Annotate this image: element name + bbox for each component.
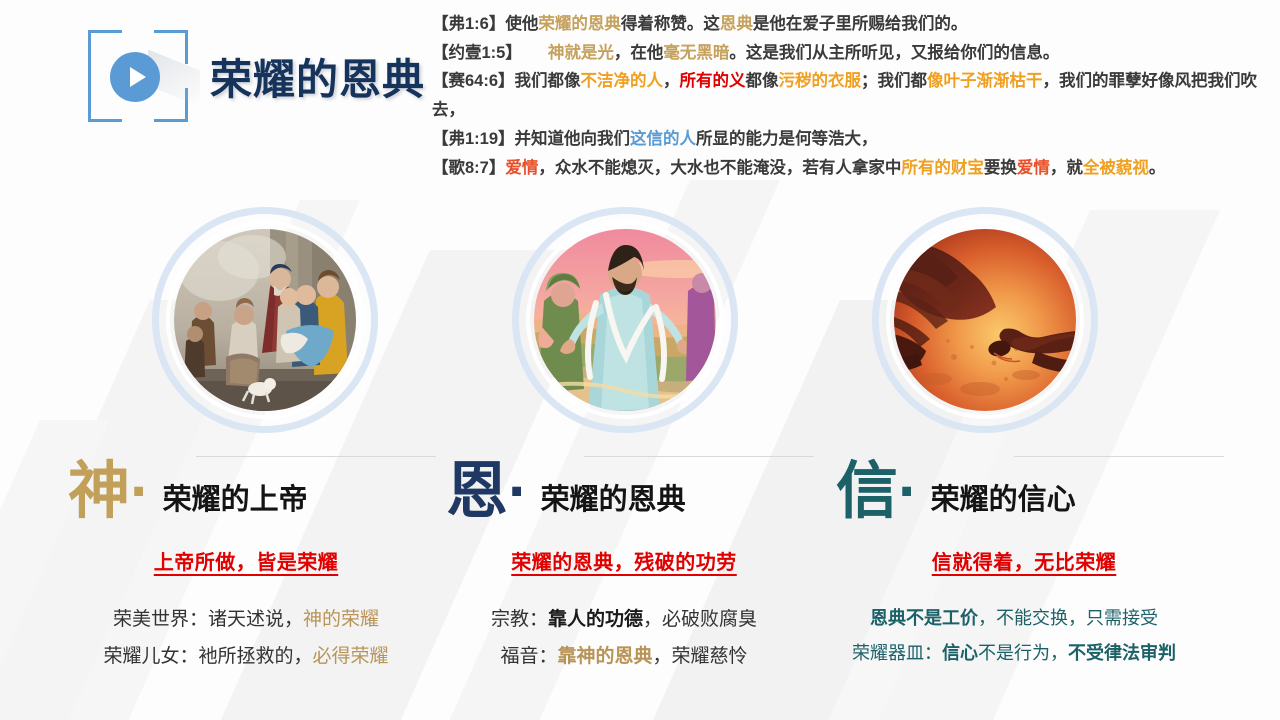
text-run: 【赛64:6】我们都像 <box>432 72 581 90</box>
column-big-char: 恩 <box>446 463 507 522</box>
column-faith: 信 · 荣耀的信心 信就得着，无比荣耀 恩典不是工价，不能交换，只需接受荣耀器皿… <box>814 448 1214 671</box>
column-detail-line: 荣耀器皿：信心不是行为，不受律法审判 <box>814 636 1214 671</box>
brand-lockup: 荣耀的恩典 <box>88 26 428 126</box>
column-detail-line: 恩典不是工价，不能交换，只需接受 <box>814 601 1214 636</box>
reaching-hands-silhouette <box>894 229 1076 411</box>
circle-image-2 <box>512 207 738 433</box>
text-run: ，不能交换，只需接受 <box>978 608 1158 628</box>
text-run: 必得荣耀 <box>313 646 389 667</box>
column-slogan: 信就得着，无比荣耀 <box>814 546 1214 575</box>
column-subtitle: 荣耀的信心 <box>931 476 1076 522</box>
text-run: ， <box>663 72 680 90</box>
text-run: ，在他 <box>614 44 664 62</box>
text-run: 要换 <box>984 159 1017 177</box>
text-run: 信心 <box>942 643 978 663</box>
text-run: 不受律法审判 <box>1068 643 1176 663</box>
text-run: 。 <box>1149 159 1166 177</box>
text-run: 得着称赞。这 <box>621 15 720 33</box>
slide-canvas: 荣耀的恩典 【弗1:6】使他荣耀的恩典得着称赞。这恩典是他在爱子里所赐给我们的。… <box>0 0 1280 720</box>
jesus-open-arms-illustration <box>534 229 716 411</box>
column-divider-line <box>584 456 814 457</box>
text-run: 恩典不是工价 <box>870 608 978 628</box>
column-heading: 信 · 荣耀的信心 <box>814 448 1214 522</box>
prodigal-son-painting <box>174 229 356 411</box>
slide-header: 荣耀的恩典 【弗1:6】使他荣耀的恩典得着称赞。这恩典是他在爱子里所赐给我们的。… <box>0 0 1280 190</box>
column-dot: · <box>898 463 919 522</box>
brand-title: 荣耀的恩典 <box>210 46 425 107</box>
column-lines: 荣美世界：诸天述说，神的荣耀荣耀儿女：衪所拯救的，必得荣耀 <box>46 601 446 675</box>
column-subtitle: 荣耀的恩典 <box>541 476 686 522</box>
circle-image-3 <box>872 207 1098 433</box>
text-run: 【歌8:7】 <box>432 159 505 177</box>
column-detail-line: 荣耀儿女：衪所拯救的，必得荣耀 <box>46 638 446 675</box>
text-run: 荣耀儿女：衪所拯救的， <box>103 646 312 667</box>
text-run: 荣耀器皿： <box>852 643 942 663</box>
text-run: 宗教： <box>491 609 548 630</box>
text-run: 【弗1:6】使他 <box>432 15 538 33</box>
text-run: 污秽的衣服 <box>779 72 862 90</box>
text-run: ，众水不能熄灭，大水也不能淹没，若有人拿家中 <box>538 159 901 177</box>
text-run: ，荣耀慈怜 <box>653 646 748 667</box>
text-run: 这信的人 <box>630 130 696 148</box>
column-detail-line: 福音：靠神的恩典，荣耀慈怜 <box>424 638 824 675</box>
column-dot: · <box>130 463 151 522</box>
verse-line: 【约壹1:5】神就是光，在他毫无黑暗。这是我们从主所听见，又报给你们的信息。 <box>432 39 1272 68</box>
column-slogan: 荣耀的恩典，残破的功劳 <box>424 546 824 575</box>
text-run: 不洁净的人 <box>581 72 664 90</box>
text-run: ；我们都 <box>861 72 927 90</box>
text-run: 毫无黑暗 <box>663 44 729 62</box>
column-dot: · <box>508 463 529 522</box>
text-run: 所有的义 <box>680 72 746 90</box>
text-run: ，就 <box>1050 159 1083 177</box>
text-run: 【弗1:19】并知道他向我们 <box>432 130 630 148</box>
column-divider-line <box>1014 456 1224 457</box>
text-run: 福音： <box>500 646 557 667</box>
column-grace: 恩 · 荣耀的恩典 荣耀的恩典，残破的功劳 宗教：靠人的功德，必破败腐臭福音：靠… <box>424 448 824 675</box>
text-run: 神就是光 <box>548 44 614 62</box>
column-slogan: 上帝所做，皆是荣耀 <box>46 546 446 575</box>
text-run: 爱情 <box>505 159 538 177</box>
column-subtitle: 荣耀的上帝 <box>163 476 308 522</box>
text-run: 靠人的功德 <box>548 609 643 630</box>
column-heading: 神 · 荣耀的上帝 <box>46 448 446 522</box>
circle-image-1 <box>152 207 378 433</box>
text-run: 都像 <box>746 72 779 90</box>
text-run: 荣美世界：诸天述说， <box>113 609 303 630</box>
text-run: 不是行为， <box>978 643 1068 663</box>
text-run: 是他在爱子里所赐给我们的。 <box>753 15 968 33</box>
column-lines: 宗教：靠人的功德，必破败腐臭福音：靠神的恩典，荣耀慈怜 <box>424 601 824 675</box>
column-big-char: 信 <box>836 463 897 522</box>
column-heading: 恩 · 荣耀的恩典 <box>424 448 824 522</box>
text-run: 爱情 <box>1017 159 1050 177</box>
text-run: 像叶子渐渐枯干 <box>927 72 1043 90</box>
play-circle-icon <box>110 52 160 102</box>
text-run: 全被藐视 <box>1083 159 1149 177</box>
column-divider-line <box>196 456 436 457</box>
scripture-block: 【弗1:6】使他荣耀的恩典得着称赞。这恩典是他在爱子里所赐给我们的。 【约壹1:… <box>432 10 1272 182</box>
text-run: 所有的财宝 <box>901 159 984 177</box>
verse-line: 【弗1:19】并知道他向我们这信的人所显的能力是何等浩大， <box>432 125 1272 154</box>
text-run: ，必破败腐臭 <box>643 609 757 630</box>
text-run: 。这是我们从主所听见，又报给你们的信息。 <box>729 44 1059 62</box>
verse-line: 【歌8:7】爱情，众水不能熄灭，大水也不能淹没，若有人拿家中所有的财宝要换爱情，… <box>432 154 1272 183</box>
column-detail-line: 宗教：靠人的功德，必破败腐臭 <box>424 601 824 638</box>
verse-line: 【赛64:6】我们都像不洁净的人，所有的义都像污秽的衣服；我们都像叶子渐渐枯干，… <box>432 67 1272 124</box>
column-detail-line: 荣美世界：诸天述说，神的荣耀 <box>46 601 446 638</box>
text-run: 【约壹1:5】 <box>432 44 522 62</box>
text-run: 荣耀的恩典 <box>538 15 621 33</box>
column-god: 神 · 荣耀的上帝 上帝所做，皆是荣耀 荣美世界：诸天述说，神的荣耀荣耀儿女：衪… <box>46 448 446 675</box>
text-run: 恩典 <box>720 15 753 33</box>
verse-line: 【弗1:6】使他荣耀的恩典得着称赞。这恩典是他在爱子里所赐给我们的。 <box>432 10 1272 39</box>
column-lines: 恩典不是工价，不能交换，只需接受荣耀器皿：信心不是行为，不受律法审判 <box>814 601 1214 671</box>
column-big-char: 神 <box>68 463 129 522</box>
text-run: 神的荣耀 <box>303 609 379 630</box>
text-run: 所显的能力是何等浩大， <box>696 130 878 148</box>
brand-mark <box>88 30 188 122</box>
text-run: 靠神的恩典 <box>557 646 652 667</box>
